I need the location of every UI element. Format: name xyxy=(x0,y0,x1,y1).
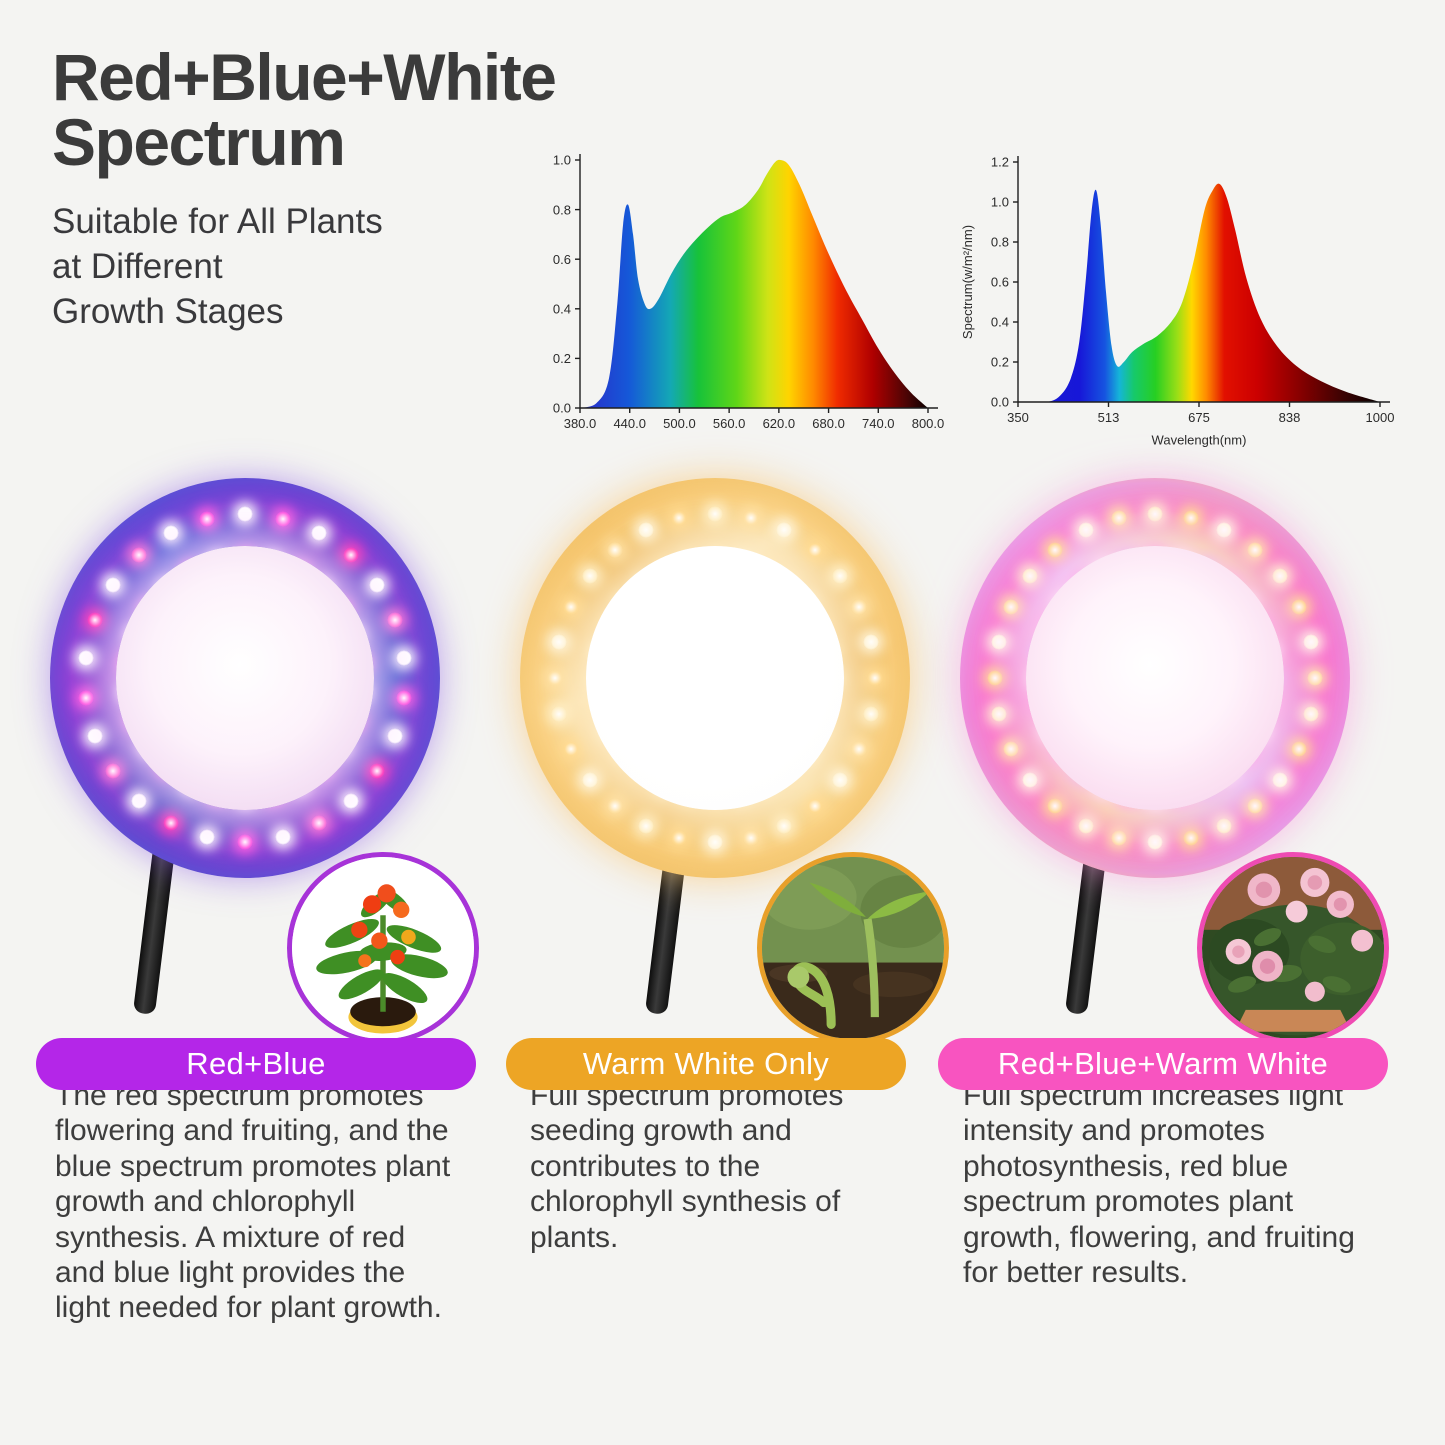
description-warm-white: Full spectrum promotes seeding growth an… xyxy=(530,1078,900,1255)
led xyxy=(863,706,879,722)
led xyxy=(275,829,291,845)
led xyxy=(387,728,403,744)
led xyxy=(551,634,567,650)
led xyxy=(1247,542,1263,558)
led xyxy=(1183,830,1199,846)
led xyxy=(807,542,823,558)
led xyxy=(163,815,179,831)
led xyxy=(776,818,792,834)
led xyxy=(1272,772,1288,788)
led xyxy=(199,829,215,845)
svg-text:0.6: 0.6 xyxy=(553,252,571,267)
rose-plant-art xyxy=(1202,857,1384,1039)
spectrum-chart-redblue: 0.00.20.40.60.81.01.23505136758381000Spe… xyxy=(940,140,1410,470)
led xyxy=(343,793,359,809)
plant-inset-seedling xyxy=(757,852,949,1044)
svg-text:0.0: 0.0 xyxy=(553,401,571,416)
led xyxy=(1291,741,1307,757)
led xyxy=(78,690,94,706)
led xyxy=(776,522,792,538)
led xyxy=(743,510,759,526)
svg-text:0.0: 0.0 xyxy=(991,395,1009,410)
led xyxy=(1022,568,1038,584)
svg-text:0.8: 0.8 xyxy=(553,202,571,217)
seedling-art xyxy=(762,857,944,1039)
led xyxy=(1183,510,1199,526)
led xyxy=(563,741,579,757)
led xyxy=(671,510,687,526)
product-column-warm-white: Warm White Only xyxy=(498,470,953,1090)
led xyxy=(105,763,121,779)
led xyxy=(671,830,687,846)
svg-text:740.0: 740.0 xyxy=(862,416,895,431)
led xyxy=(1216,818,1232,834)
led xyxy=(563,599,579,615)
led xyxy=(707,834,723,850)
led xyxy=(1078,818,1094,834)
led xyxy=(863,634,879,650)
ring-center-glow xyxy=(1026,546,1283,810)
led xyxy=(311,815,327,831)
led xyxy=(87,728,103,744)
svg-text:0.2: 0.2 xyxy=(553,351,571,366)
pepper-plant-art xyxy=(292,857,474,1039)
led xyxy=(275,511,291,527)
svg-text:0.4: 0.4 xyxy=(553,301,571,316)
led xyxy=(1216,522,1232,538)
led xyxy=(607,542,623,558)
led xyxy=(1111,510,1127,526)
svg-text:680.0: 680.0 xyxy=(812,416,845,431)
led xyxy=(369,577,385,593)
badge-warm-white[interactable]: Warm White Only xyxy=(506,1038,906,1090)
led xyxy=(387,612,403,628)
plant-inset-roses xyxy=(1197,852,1389,1044)
led xyxy=(237,506,253,522)
led xyxy=(311,525,327,541)
led xyxy=(638,818,654,834)
led xyxy=(78,650,94,666)
led xyxy=(131,547,147,563)
led xyxy=(1047,798,1063,814)
led xyxy=(369,763,385,779)
led xyxy=(396,650,412,666)
page-title: Red+Blue+White Spectrum xyxy=(52,45,522,174)
led xyxy=(582,568,598,584)
led xyxy=(607,798,623,814)
led xyxy=(743,830,759,846)
led xyxy=(396,690,412,706)
led xyxy=(1003,599,1019,615)
svg-text:350: 350 xyxy=(1007,410,1029,425)
svg-text:440.0: 440.0 xyxy=(613,416,646,431)
description-red-blue: The red spectrum promotes flowering and … xyxy=(55,1078,455,1326)
led xyxy=(1303,706,1319,722)
svg-text:0.8: 0.8 xyxy=(991,235,1009,250)
svg-text:Wavelength(nm): Wavelength(nm) xyxy=(1152,433,1247,448)
svg-text:1.0: 1.0 xyxy=(553,153,571,168)
led xyxy=(1303,634,1319,650)
led xyxy=(551,706,567,722)
led xyxy=(547,670,563,686)
plant-inset-pepper xyxy=(287,852,479,1044)
led xyxy=(237,834,253,850)
svg-text:675: 675 xyxy=(1188,410,1210,425)
led xyxy=(851,741,867,757)
spectrum-chart-full: 0.00.20.40.60.81.0380.0440.0500.0560.062… xyxy=(528,140,948,460)
led xyxy=(851,599,867,615)
led xyxy=(807,798,823,814)
svg-text:0.2: 0.2 xyxy=(991,355,1009,370)
led xyxy=(1307,670,1323,686)
svg-text:Spectrum(w/m²/nm): Spectrum(w/m²/nm) xyxy=(960,225,975,339)
led xyxy=(832,568,848,584)
led xyxy=(105,577,121,593)
led xyxy=(163,525,179,541)
led xyxy=(582,772,598,788)
svg-text:500.0: 500.0 xyxy=(663,416,696,431)
svg-text:620.0: 620.0 xyxy=(763,416,796,431)
led xyxy=(1272,568,1288,584)
svg-text:1000: 1000 xyxy=(1366,410,1395,425)
badge-red-blue[interactable]: Red+Blue xyxy=(36,1038,476,1090)
led xyxy=(1291,599,1307,615)
led xyxy=(1003,741,1019,757)
led xyxy=(1047,542,1063,558)
led xyxy=(991,634,1007,650)
header-block: Red+Blue+White Spectrum Suitable for All… xyxy=(52,45,522,335)
led xyxy=(707,506,723,522)
led xyxy=(638,522,654,538)
led xyxy=(991,706,1007,722)
led xyxy=(1247,798,1263,814)
led xyxy=(1078,522,1094,538)
led xyxy=(1111,830,1127,846)
ring-light-red-blue xyxy=(50,478,440,878)
badge-red-blue-warm-white[interactable]: Red+Blue+Warm White xyxy=(938,1038,1388,1090)
ring-center-glow xyxy=(586,546,843,810)
svg-text:1.2: 1.2 xyxy=(991,155,1009,170)
led xyxy=(832,772,848,788)
svg-text:0.4: 0.4 xyxy=(991,315,1009,330)
svg-text:0.6: 0.6 xyxy=(991,275,1009,290)
chart-1-svg: 0.00.20.40.60.81.0380.0440.0500.0560.062… xyxy=(528,140,948,460)
led xyxy=(1147,834,1163,850)
description-red-blue-warm-white: Full spectrum increases light intensity … xyxy=(963,1078,1378,1290)
svg-text:838: 838 xyxy=(1279,410,1301,425)
ring-center-glow xyxy=(116,546,373,810)
svg-text:380.0: 380.0 xyxy=(564,416,597,431)
chart-2-svg: 0.00.20.40.60.81.01.23505136758381000Spe… xyxy=(940,140,1410,470)
led xyxy=(199,511,215,527)
svg-text:560.0: 560.0 xyxy=(713,416,746,431)
ring-light-red-blue-warm-white xyxy=(960,478,1350,878)
product-column-red-blue: Red+Blue xyxy=(28,470,483,1090)
led xyxy=(987,670,1003,686)
led xyxy=(1022,772,1038,788)
led xyxy=(343,547,359,563)
led xyxy=(1147,506,1163,522)
svg-text:513: 513 xyxy=(1098,410,1120,425)
svg-text:1.0: 1.0 xyxy=(991,195,1009,210)
product-column-red-blue-warm-white: Red+Blue+Warm White xyxy=(938,470,1393,1090)
page-subtitle: Suitable for All Plants at Different Gro… xyxy=(52,200,522,334)
led xyxy=(87,612,103,628)
ring-light-warm-white xyxy=(520,478,910,878)
led xyxy=(867,670,883,686)
led xyxy=(131,793,147,809)
